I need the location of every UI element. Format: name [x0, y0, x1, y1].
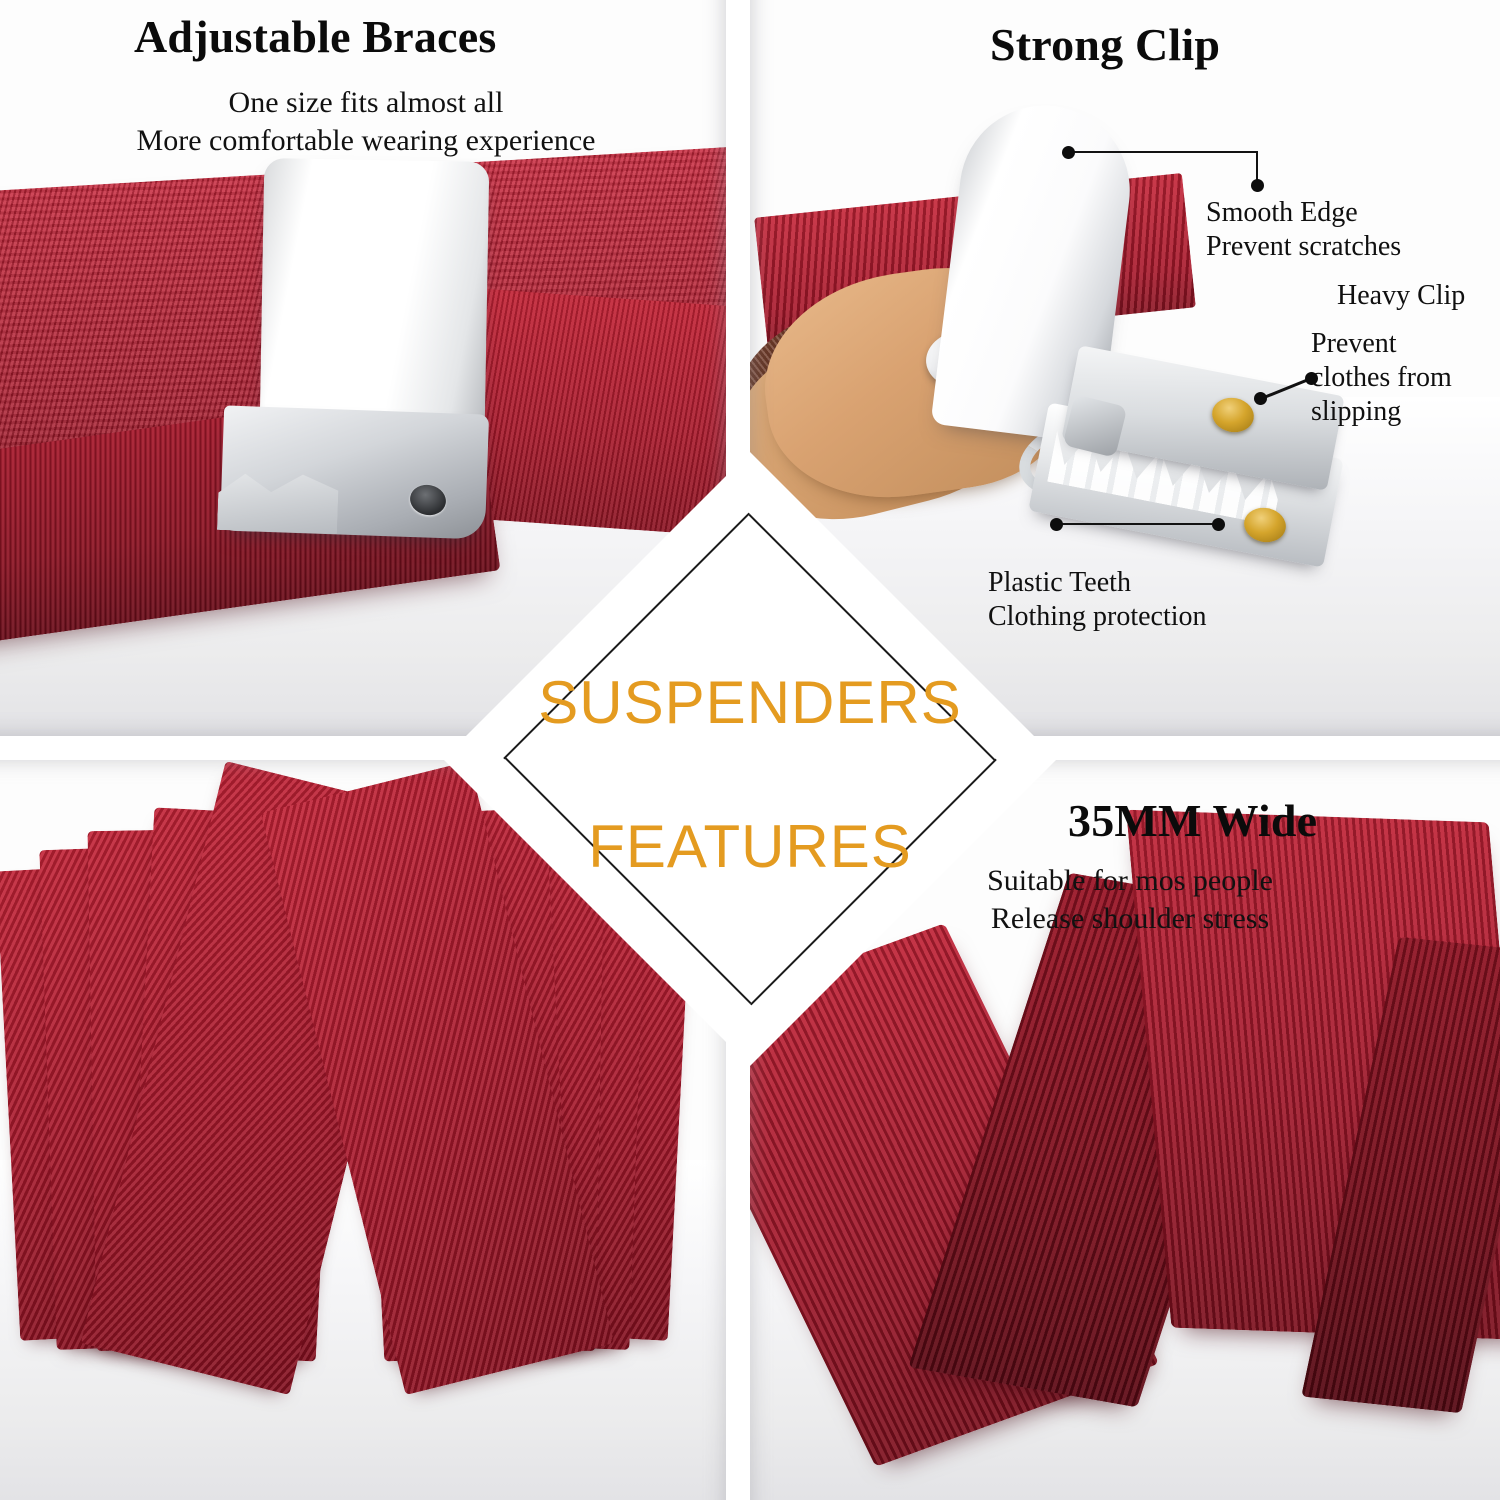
title-35mm-wide: 35MM Wide [1068, 798, 1317, 844]
annotation-plastic-teeth-line2: Clothing protection [988, 600, 1207, 634]
leader-dot-smooth-edge-start [1062, 146, 1075, 159]
leader-dot-heavy-clip-end [1305, 372, 1318, 385]
badge-text-suspenders: SUSPENDERS [443, 668, 1057, 737]
leader-dot-smooth-edge-end [1251, 179, 1264, 192]
annotation-smooth-edge-line2: Prevent scratches [1206, 230, 1401, 264]
metal-adjuster-plate [260, 158, 490, 432]
annotation-heavy-clip-body: Prevent clothes from slipping [1311, 327, 1452, 429]
infographic-board: Adjustable Braces One size fits almost a… [0, 0, 1500, 1500]
title-adjustable-braces: Adjustable Braces [134, 14, 496, 60]
subtitle-one-size: One size fits almost all [0, 84, 732, 122]
leader-dot-plastic-teeth-end [1212, 518, 1225, 531]
subtitle-comfortable: More comfortable wearing experience [0, 122, 732, 160]
title-strong-clip: Strong Clip [990, 22, 1220, 68]
leader-line-plastic-teeth [1056, 523, 1218, 525]
annotation-heavy-clip-line2: Prevent [1311, 327, 1452, 361]
annotation-heavy-clip-line4: slipping [1311, 395, 1452, 429]
annotation-heavy-clip-title: Heavy Clip [1337, 279, 1465, 313]
annotation-smooth-edge: Smooth Edge Prevent scratches [1206, 196, 1401, 264]
annotation-heavy-clip-line3: clothes from [1311, 361, 1452, 395]
leader-dot-plastic-teeth-start [1050, 518, 1063, 531]
leader-dot-heavy-clip-start [1254, 392, 1267, 405]
leader-line-smooth-edge-h [1068, 151, 1258, 153]
annotation-smooth-edge-line1: Smooth Edge [1206, 196, 1401, 230]
annotation-heavy-clip-line1: Heavy Clip [1337, 279, 1465, 313]
annotation-plastic-teeth: Plastic Teeth Clothing protection [988, 566, 1207, 634]
annotation-plastic-teeth-line1: Plastic Teeth [988, 566, 1207, 600]
